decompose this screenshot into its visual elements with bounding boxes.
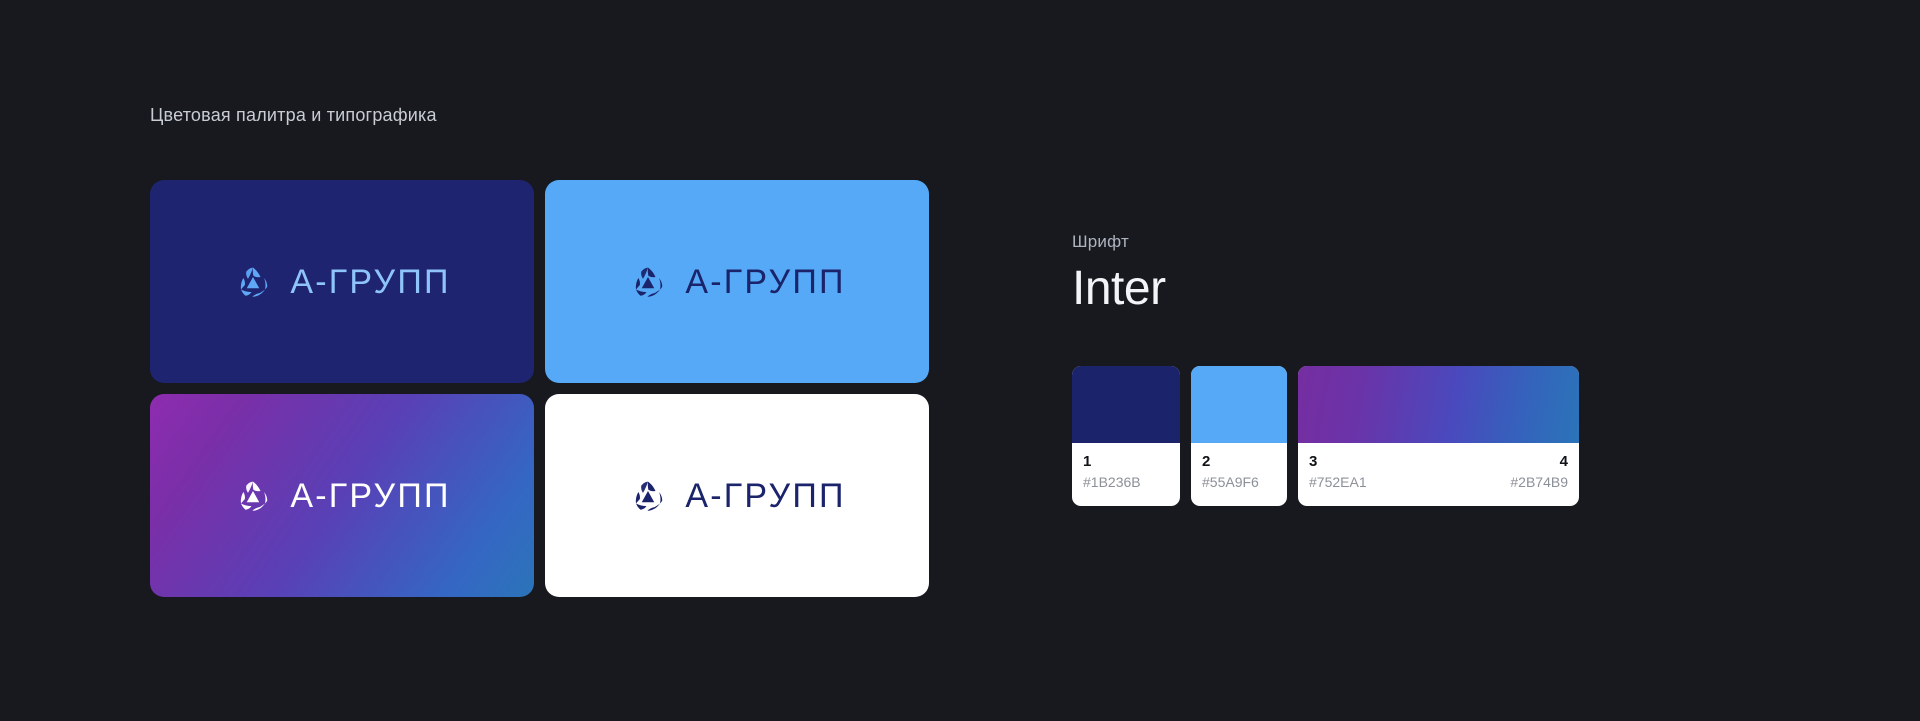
wordmark-text: А-ГРУПП — [685, 265, 845, 299]
color-meta: 3 4 #752EA1 #2B74B9 — [1298, 443, 1579, 506]
color-chip — [1298, 366, 1579, 443]
color-hex: #1B236B — [1083, 472, 1141, 493]
color-chip — [1191, 366, 1287, 443]
color-number: 4 — [1560, 452, 1568, 472]
color-swatch-3-4-gradient[interactable]: 3 4 #752EA1 #2B74B9 — [1298, 366, 1579, 506]
logo-card-navy[interactable]: А-ГРУПП — [150, 180, 534, 383]
a-grupp-logo-icon — [628, 476, 668, 516]
color-number: 2 — [1202, 452, 1210, 472]
typography-block: Шрифт Inter — [1072, 232, 1166, 314]
a-grupp-logo-icon — [628, 262, 668, 302]
color-hex: #2B74B9 — [1510, 472, 1568, 493]
logo-card-white[interactable]: А-ГРУПП — [545, 394, 929, 597]
color-swatch-1[interactable]: 1 #1B236B — [1072, 366, 1180, 506]
typography-label: Шрифт — [1072, 232, 1166, 252]
wordmark-text: А-ГРУПП — [685, 479, 845, 513]
color-hex: #752EA1 — [1309, 472, 1367, 493]
color-meta: 2 #55A9F6 — [1191, 443, 1287, 506]
wordmark-text: А-ГРУПП — [290, 479, 450, 513]
color-number: 3 — [1309, 452, 1317, 472]
logo-card-grid: А-ГРУПП — [150, 180, 929, 597]
logo-lockup: А-ГРУПП — [628, 476, 845, 516]
logo-card-gradient[interactable]: А-ГРУПП — [150, 394, 534, 597]
logo-lockup: А-ГРУПП — [628, 262, 845, 302]
color-hex: #55A9F6 — [1202, 472, 1259, 493]
color-swatch-2[interactable]: 2 #55A9F6 — [1191, 366, 1287, 506]
typography-family-name: Inter — [1072, 264, 1166, 314]
color-palette-row: 1 #1B236B 2 #55A9F6 3 — [1072, 366, 1579, 506]
logo-card-light-blue[interactable]: А-ГРУПП — [545, 180, 929, 383]
a-grupp-logo-icon — [233, 262, 273, 302]
logo-lockup: А-ГРУПП — [233, 262, 450, 302]
color-chip — [1072, 366, 1180, 443]
page-title: Цветовая палитра и типографика — [150, 105, 437, 126]
a-grupp-logo-icon — [233, 476, 273, 516]
wordmark-text: А-ГРУПП — [290, 265, 450, 299]
color-number: 1 — [1083, 452, 1091, 472]
color-meta: 1 #1B236B — [1072, 443, 1180, 506]
logo-lockup: А-ГРУПП — [233, 476, 450, 516]
brand-guidelines-canvas: Цветовая палитра и типографика — [0, 0, 1920, 721]
